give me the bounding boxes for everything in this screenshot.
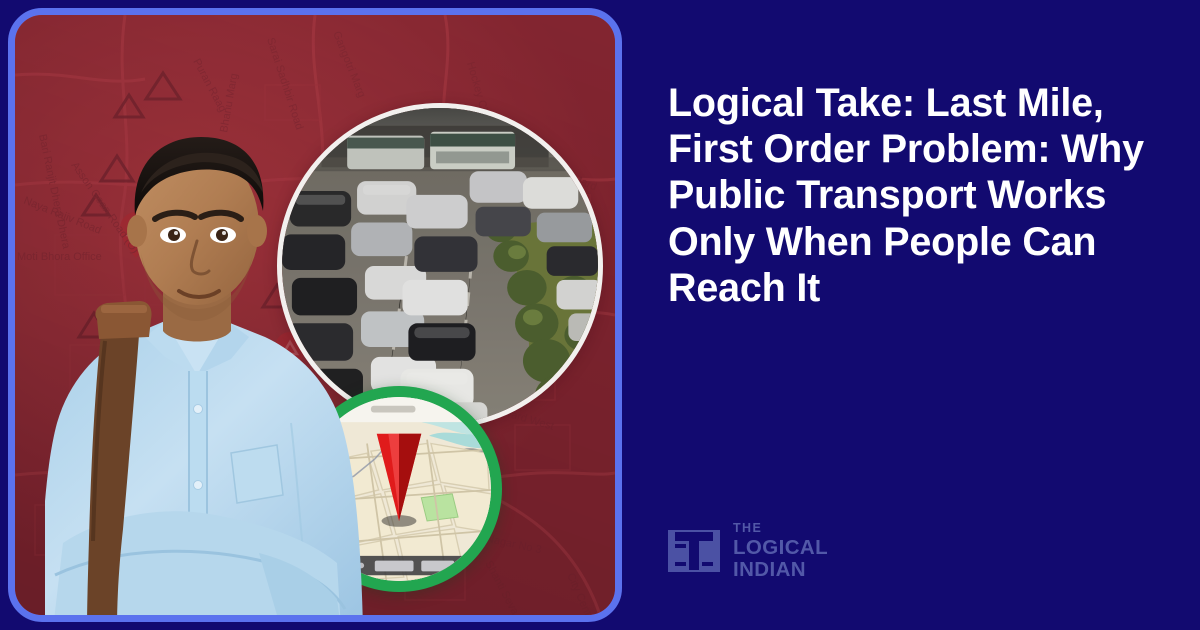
brand-logo: THE LOGICAL INDIAN [668, 522, 828, 581]
media-panel: Bari Ranjit Dhera Dhera Puran Raag Sarai… [8, 8, 622, 622]
social-media-card: Bari Ranjit Dhera Dhera Puran Raag Sarai… [0, 0, 1200, 630]
logo-line-indian: INDIAN [733, 560, 828, 581]
logo-line-the: THE [733, 522, 828, 535]
person-photo [45, 123, 365, 615]
page-title: Logical Take: Last Mile, First Order Pro… [668, 80, 1168, 311]
logo-line-logical: LOGICAL [733, 538, 828, 559]
media-inner: Bari Ranjit Dhera Dhera Puran Raag Sarai… [15, 15, 615, 615]
logo-wordmark: THE LOGICAL INDIAN [733, 522, 828, 581]
logo-mark-icon [668, 524, 720, 578]
